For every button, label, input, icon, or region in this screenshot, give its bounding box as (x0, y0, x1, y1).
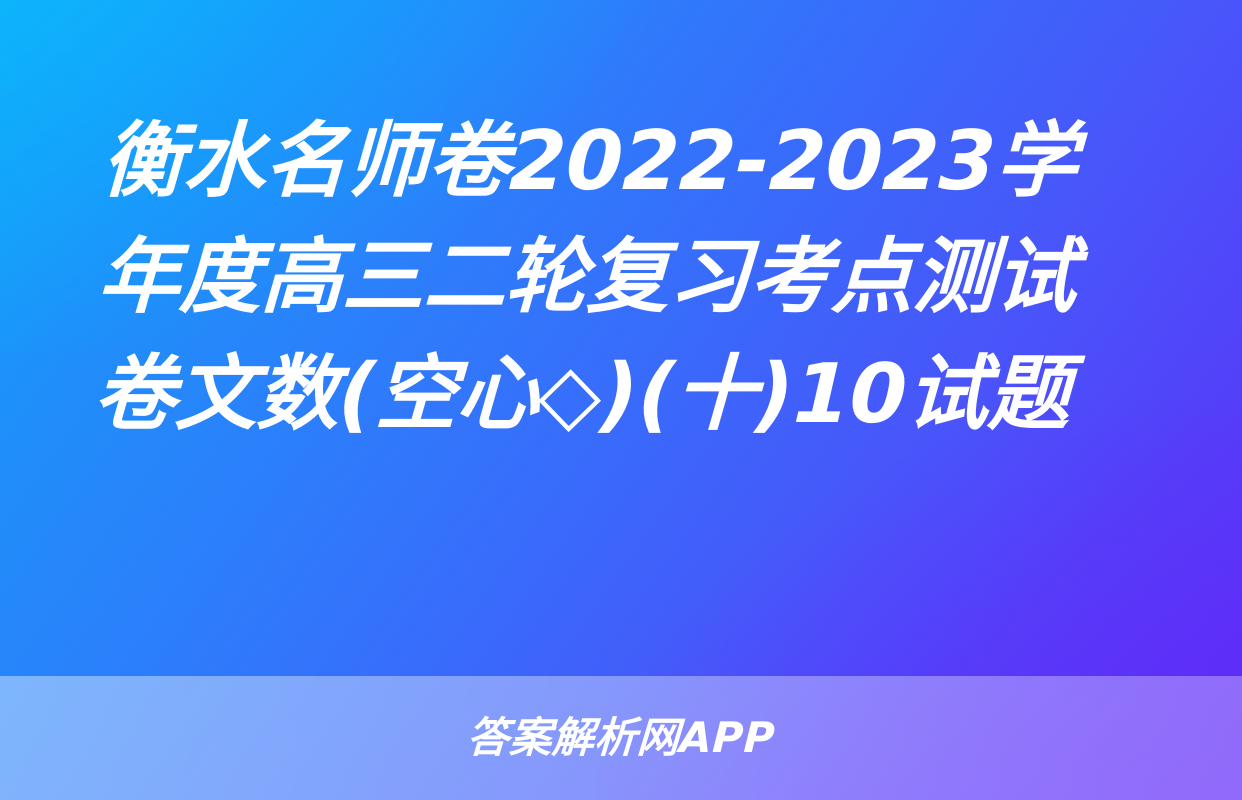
poster-canvas: 衡水名师卷2022-2023学年度高三二轮复习考点测试卷文数(空心◇)(十)10… (0, 0, 1242, 800)
footer-watermark-bar: 答案解析网APP (0, 676, 1242, 800)
footer-brand-label: 答案解析网APP (466, 717, 776, 759)
page-title: 衡水名师卷2022-2023学年度高三二轮复习考点测试卷文数(空心◇)(十)10… (92, 104, 1138, 453)
poster-title-block: 衡水名师卷2022-2023学年度高三二轮复习考点测试卷文数(空心◇)(十)10… (104, 104, 1138, 453)
